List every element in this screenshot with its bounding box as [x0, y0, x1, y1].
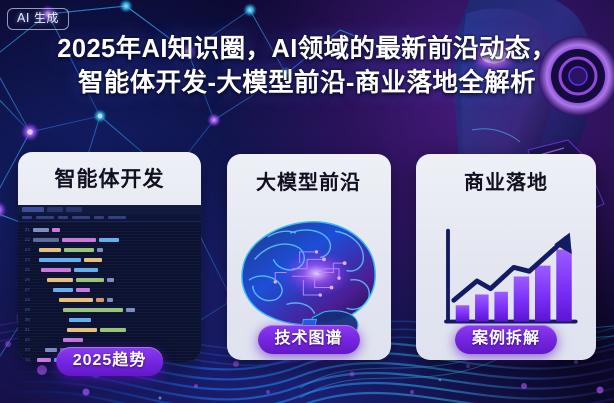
growth-bar-chart: [428, 221, 584, 337]
title-line-1: 2025年AI知识圈，AI领域的最新前沿动态，: [57, 35, 556, 63]
card-agent-development-title: 智能体开发: [18, 152, 201, 205]
page-title: 2025年AI知识圈，AI领域的最新前沿动态， 智能体开发-大模型前沿-商业落地…: [0, 33, 614, 100]
card-commercial-landing-title: 商业落地: [416, 154, 596, 197]
title-line-2: 智能体开发-大模型前沿-商业落地全解析: [20, 67, 594, 101]
card-row: 智能体开发: [0, 152, 614, 362]
card-commercial-landing[interactable]: 商业落地: [416, 154, 596, 360]
toolbar-chip: [22, 216, 32, 219]
toolbar-chip: [72, 216, 90, 219]
toolbar-chip: [108, 216, 126, 219]
toolbar-chip: [36, 216, 54, 219]
ai-generated-badge: AI 生成: [7, 8, 69, 30]
toolbar-chip: [58, 216, 68, 219]
card-commercial-landing-badge[interactable]: 案例拆解: [455, 325, 557, 354]
editor-scanlines: [18, 222, 201, 362]
card-large-model-frontier-badge[interactable]: 技术图谱: [257, 325, 359, 354]
card-large-model-frontier-title: 大模型前沿: [227, 154, 391, 199]
card-agent-development[interactable]: 智能体开发: [18, 152, 201, 362]
editor-code-area: 21 22 23 24 25 26 27 28 29 30 31 32: [18, 222, 201, 362]
poster-root: AI 生成 2025年AI知识圈，AI领域的最新前沿动态， 智能体开发-大模型前…: [0, 0, 614, 403]
editor-toolbar: [18, 214, 201, 222]
editor-tab-bar: [18, 205, 201, 214]
toolbar-chip: [94, 216, 104, 219]
editor-tab: [47, 207, 63, 212]
card-agent-development-badge[interactable]: 2025趋势: [56, 347, 164, 376]
editor-tab: [66, 207, 82, 212]
ai-badge-prefix: AI: [17, 12, 30, 25]
editor-tab-active: [22, 207, 44, 212]
card-agent-development-inner: 智能体开发: [18, 152, 201, 362]
card-agent-development-body: 21 22 23 24 25 26 27 28 29 30 31 32: [18, 205, 201, 362]
code-editor-mock: 21 22 23 24 25 26 27 28 29 30 31 32: [18, 205, 201, 362]
ai-badge-label: 生成: [34, 12, 59, 24]
card-large-model-frontier[interactable]: 大模型前沿: [227, 154, 391, 360]
